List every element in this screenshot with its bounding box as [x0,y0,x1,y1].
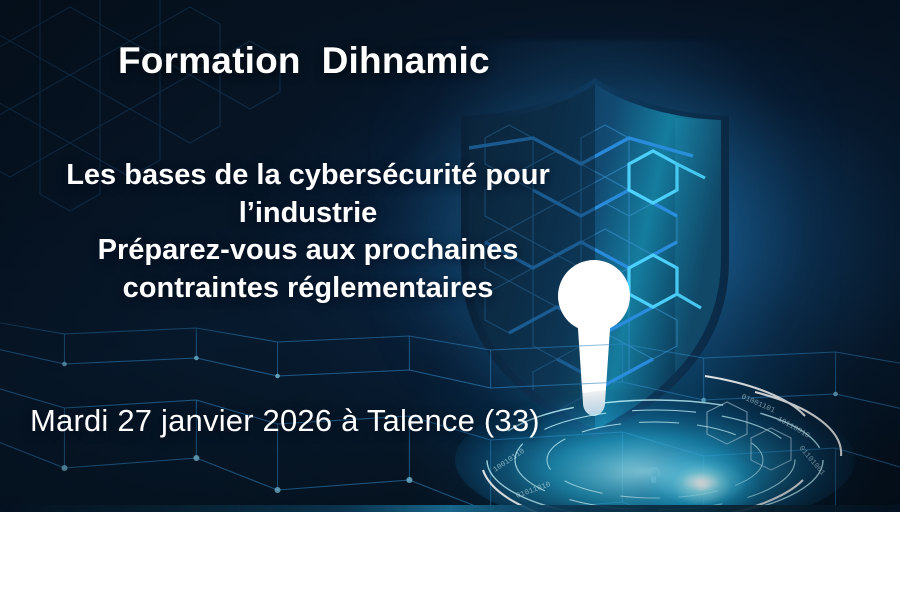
page-title: Formation Dihnamic [118,40,490,82]
poster-subtitle: Les bases de la cybersécurité pour l’ind… [28,157,588,308]
subtitle-line-2: l’industrie [28,195,588,233]
subtitle-line-1: Les bases de la cybersécurité pour [28,157,588,195]
event-date-location: Mardi 27 janvier 2026 à Talence (33) [30,403,590,439]
poster-banner: 01001101 10110010 01101001 10010110 0101… [0,0,900,600]
subtitle-line-4: contraintes réglementaires [28,270,588,308]
subtitle-line-3: Préparez-vous aux prochaines [28,232,588,270]
poster-text-layer: Formation Dihnamic Les bases de la cyber… [0,0,900,600]
sponsor-logo-bar: NAQ TRONIC ÉCOSYSTÈME ÉLECTRONIQUE EN NO… [0,512,900,600]
